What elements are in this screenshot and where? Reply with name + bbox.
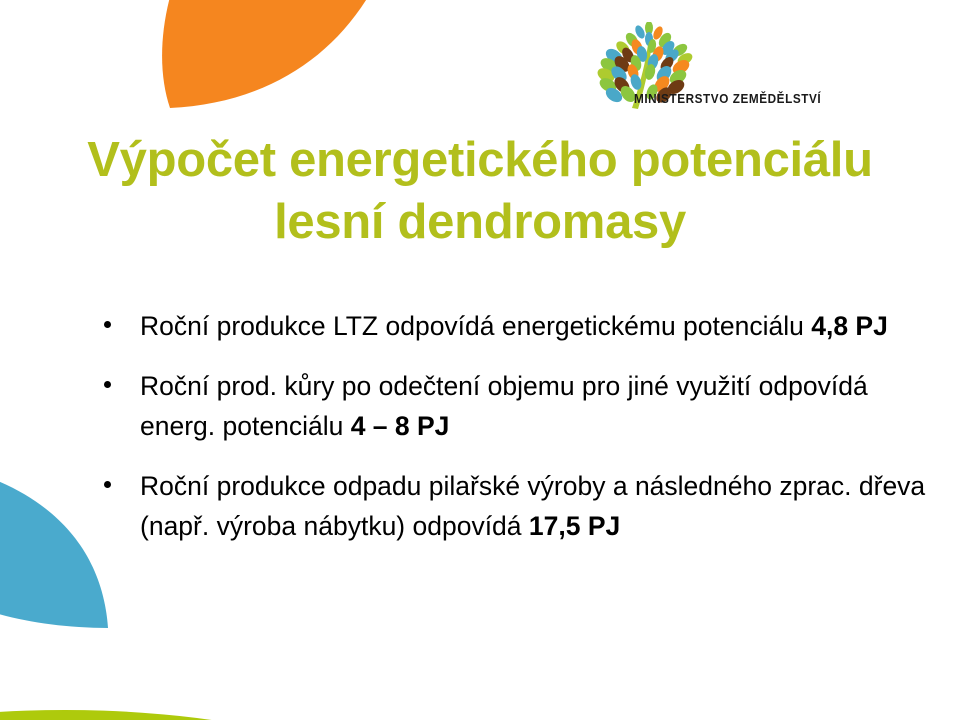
bullet-dot-icon [104,381,111,388]
green-arc-decoration [0,650,460,720]
list-item-text: Roční produkce LTZ odpovídá energetickém… [140,311,888,341]
list-item-value: 4 – 8 PJ [351,411,450,441]
list-item-text: Roční prod. kůry po odečtení objemu pro … [140,371,868,441]
list-item-value: 4,8 PJ [811,311,888,341]
list-item: Roční produkce LTZ odpovídá energetickém… [96,306,926,346]
list-item: Roční produkce odpadu pilařské výroby a … [96,466,926,546]
page-title: Výpočet energetického potenciálu lesní d… [30,129,930,253]
orange-leaf-decoration [130,0,430,110]
list-item-value: 17,5 PJ [529,511,620,541]
list-item-plain: Roční produkce LTZ odpovídá energetickém… [140,311,811,341]
page-title-line-1: Výpočet energetického potenciálu [30,129,930,191]
bullet-list: Roční produkce LTZ odpovídá energetickém… [96,306,926,546]
page-title-line-2: lesní dendromasy [30,191,930,253]
bullet-dot-icon [104,321,111,328]
ministry-logo-text: MINISTERSTVO ZEMĚDĚLSTVÍ [634,92,821,106]
ministry-logo: MINISTERSTVO ZEMĚDĚLSTVÍ [592,22,852,118]
list-item-plain: Roční prod. kůry po odečtení objemu pro … [140,371,868,441]
list-item-text: Roční produkce odpadu pilařské výroby a … [140,471,925,541]
blue-leaf-decoration [0,455,110,630]
list-item: Roční prod. kůry po odečtení objemu pro … [96,366,926,446]
bullet-dot-icon [104,481,111,488]
presentation-slide: MINISTERSTVO ZEMĚDĚLSTVÍ Výpočet energet… [0,0,960,720]
